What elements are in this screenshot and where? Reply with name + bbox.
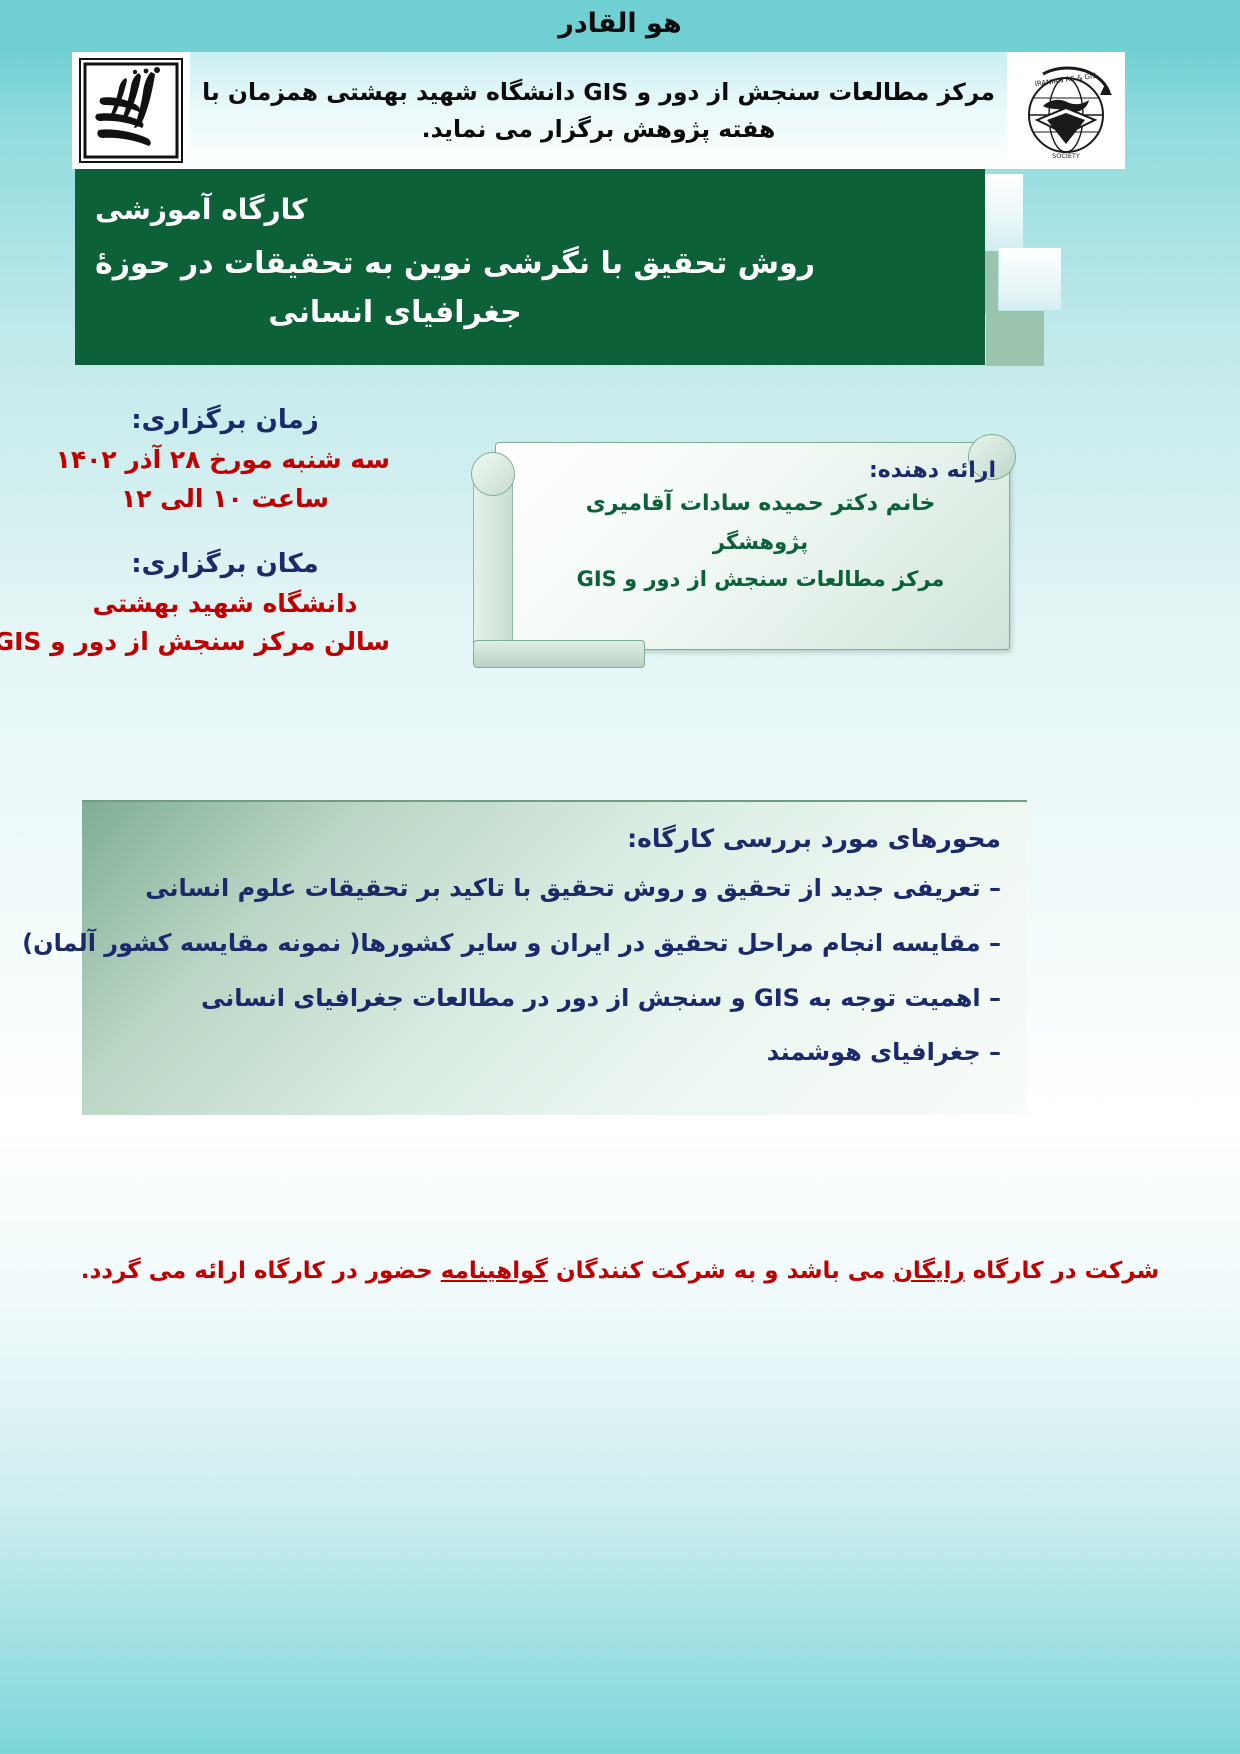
time-label: زمان برگزاری: — [60, 405, 390, 435]
decorative-square-white-2 — [999, 248, 1061, 310]
header-band: مرکز مطالعات سنجش از دور و GIS دانشگاه ش… — [72, 52, 1125, 169]
workshop-title-line-1: روش تحقیق با نگرشی نوین به تحقیقات در حو… — [95, 240, 815, 289]
topics-box: محورهای مورد بررسی کارگاه: – تعریفی جدید… — [82, 800, 1027, 1115]
workshop-title-block: کارگاه آموزشی روش تحقیق با نگرشی نوین به… — [75, 169, 985, 365]
event-date: سه شنبه مورخ ۲۸ آذر ۱۴۰۲ — [60, 441, 390, 480]
scroll-spine — [473, 472, 513, 646]
presenter-name: خانم دکتر حمیده سادات آقامیری — [525, 485, 996, 524]
svg-text:SOCIETY: SOCIETY — [1052, 152, 1080, 160]
decorative-square-green-3 — [986, 311, 1044, 366]
topic-item: – تعریفی جدید از تحقیق و روش تحقیق با تا… — [102, 871, 1001, 906]
workshop-title-line-2: جغرافیای انسانی — [95, 289, 815, 338]
invocation-text: هو القادر — [0, 8, 1240, 39]
presenter-scroll: ارائه دهنده: خانم دکتر حمیده سادات آقامی… — [455, 432, 1020, 672]
workshop-title: روش تحقیق با نگرشی نوین به تحقیقات در حو… — [95, 240, 815, 337]
topics-title: محورهای مورد بررسی کارگاه: — [102, 824, 1001, 853]
iranian-rs-gis-society-logo: IRANIAN RS & GIS SOCIETY — [1007, 52, 1125, 169]
header-line-1: مرکز مطالعات سنجش از دور و GIS دانشگاه ش… — [202, 74, 995, 110]
header-announcement: مرکز مطالعات سنجش از دور و GIS دانشگاه ش… — [190, 52, 1007, 169]
schedule-venue-column: زمان برگزاری: سه شنبه مورخ ۲۸ آذر ۱۴۰۲ س… — [60, 405, 390, 662]
presenter-label: ارائه دهنده: — [525, 458, 996, 483]
place-label: مکان برگزاری: — [60, 549, 390, 579]
footer-free-word: رایگان — [893, 1258, 964, 1284]
topic-item: – اهمیت توجه به GIS و سنجش از دور در مطا… — [102, 981, 1001, 1016]
presenter-role: پژوهشگر — [525, 524, 996, 562]
footer-part-3: حضور در کارگاه ارائه می گردد. — [81, 1258, 441, 1284]
workshop-kicker: کارگاه آموزشی — [95, 193, 307, 226]
venue-hall: سالن مرکز سنجش از دور و GIS — [60, 623, 390, 662]
topic-item: – جغرافیای هوشمند — [102, 1035, 1001, 1070]
scroll-foot — [473, 640, 645, 668]
presenter-organization: مرکز مطالعات سنجش از دور و GIS — [525, 561, 996, 599]
venue-university: دانشگاه شهید بهشتی — [60, 585, 390, 624]
footer-note: شرکت در کارگاه رایگان می باشد و به شرکت … — [0, 1258, 1240, 1284]
scroll-roll-left — [471, 452, 515, 496]
header-line-2: هفته پژوهش برگزار می نماید. — [422, 111, 776, 147]
footer-certificate-word: گواهینامه — [441, 1258, 548, 1284]
event-hours: ساعت ۱۰ الی ۱۲ — [60, 480, 390, 519]
topic-item: – مقایسه انجام مراحل تحقیق در ایران و سا… — [102, 926, 1001, 961]
shahid-beheshti-university-logo — [72, 52, 190, 169]
footer-part-1: شرکت در کارگاه — [965, 1258, 1160, 1284]
presenter-info: ارائه دهنده: خانم دکتر حمیده سادات آقامی… — [525, 458, 996, 599]
footer-part-2: می باشد و به شرکت کنندگان — [548, 1258, 893, 1284]
